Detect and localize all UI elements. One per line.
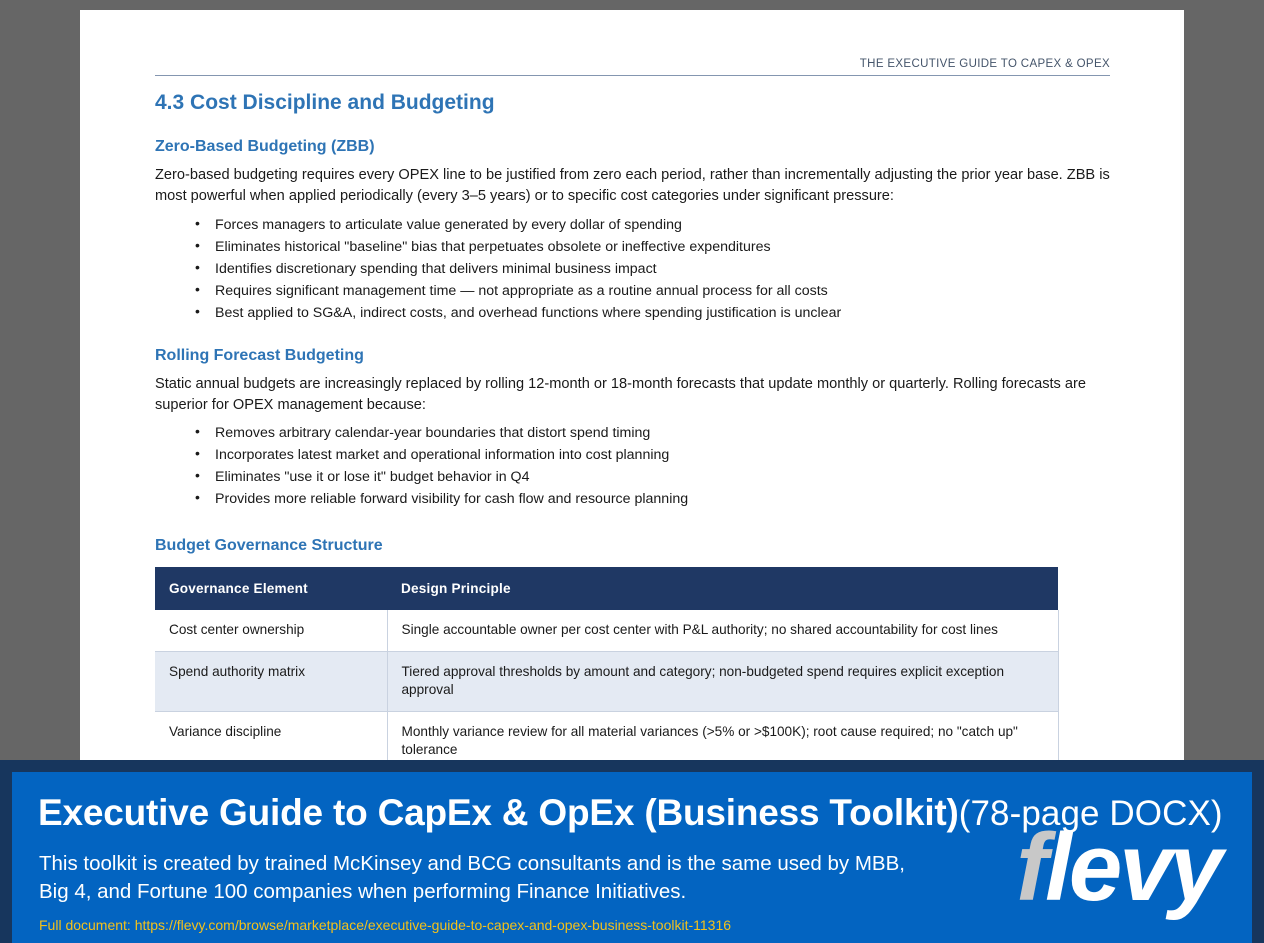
flevy-logo-levy: levy (1045, 814, 1220, 921)
list-item: Best applied to SG&A, indirect costs, an… (193, 302, 1110, 324)
document-content: THE EXECUTIVE GUIDE TO CAPEX & OPEX 4.3 … (155, 58, 1110, 832)
cell-design-principle: Tiered approval thresholds by amount and… (387, 651, 1058, 711)
cell-governance-element: Cost center ownership (155, 610, 387, 652)
promo-subtitle-line2: Big 4, and Fortune 100 companies when pe… (39, 880, 686, 903)
promo-subtitle-line1: This toolkit is created by trained McKin… (39, 852, 905, 875)
page-title: 4.3 Cost Discipline and Budgeting (155, 90, 1110, 115)
bullet-list-rolling-forecast: Removes arbitrary calendar-year boundari… (155, 422, 1110, 510)
cell-design-principle: Single accountable owner per cost center… (387, 610, 1058, 652)
bullet-list-zbb: Forces managers to articulate value gene… (155, 214, 1110, 324)
flevy-logo[interactable]: flevy (1016, 820, 1220, 916)
list-item: Provides more reliable forward visibilit… (193, 488, 1110, 510)
cell-governance-element: Spend authority matrix (155, 651, 387, 711)
column-header-design-principle: Design Principle (387, 567, 1058, 610)
promo-title-bold: Executive Guide to CapEx & OpEx (Busines… (38, 792, 959, 833)
column-header-governance-element: Governance Element (155, 567, 387, 610)
running-header: THE EXECUTIVE GUIDE TO CAPEX & OPEX (155, 58, 1110, 76)
subsection-paragraph-zbb: Zero-based budgeting requires every OPEX… (155, 165, 1110, 206)
table-row: Spend authority matrix Tiered approval t… (155, 651, 1058, 711)
promo-document-link[interactable]: Full document: https://flevy.com/browse/… (39, 917, 731, 933)
subsection-paragraph-rolling-forecast: Static annual budgets are increasingly r… (155, 374, 1110, 415)
flevy-logo-f: f (1016, 814, 1045, 921)
subsection-heading-zbb: Zero-Based Budgeting (ZBB) (155, 137, 1110, 156)
list-item: Identifies discretionary spending that d… (193, 258, 1110, 280)
promo-banner: Executive Guide to CapEx & OpEx (Busines… (0, 760, 1264, 943)
promo-banner-inner: Executive Guide to CapEx & OpEx (Busines… (12, 772, 1252, 943)
list-item: Eliminates historical "baseline" bias th… (193, 236, 1110, 258)
table-header-row: Governance Element Design Principle (155, 567, 1058, 610)
subsection-heading-rolling-forecast: Rolling Forecast Budgeting (155, 346, 1110, 365)
list-item: Eliminates "use it or lose it" budget be… (193, 466, 1110, 488)
list-item: Requires significant management time — n… (193, 280, 1110, 302)
subsection-heading-budget-governance: Budget Governance Structure (155, 536, 1110, 555)
table-row: Cost center ownership Single accountable… (155, 610, 1058, 652)
list-item: Removes arbitrary calendar-year boundari… (193, 422, 1110, 444)
list-item: Incorporates latest market and operation… (193, 444, 1110, 466)
promo-subtitle: This toolkit is created by trained McKin… (39, 850, 905, 907)
list-item: Forces managers to articulate value gene… (193, 214, 1110, 236)
